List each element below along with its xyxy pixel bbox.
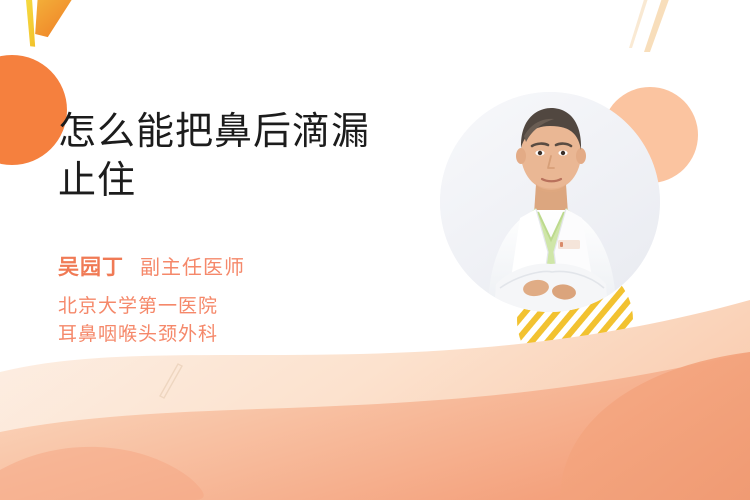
doctor-identity: 吴园丁 副主任医师: [58, 251, 418, 281]
doctor-hospital: 北京大学第一医院: [58, 293, 418, 321]
doctor-name: 吴园丁: [58, 251, 124, 281]
top-right-stripes: [629, 0, 676, 52]
orange-accent-circle: [0, 55, 67, 165]
thin-diagonal-line: [160, 364, 182, 398]
portrait-disc: [440, 92, 660, 312]
doctor-department: 耳鼻咽喉头颈外科: [58, 321, 418, 349]
doctor-portrait: [440, 92, 660, 312]
text-block: 怎么能把鼻后滴漏 止住 吴园丁 副主任医师 北京大学第一医院 耳鼻咽喉头颈外科: [58, 108, 418, 348]
doctor-affiliation: 北京大学第一医院 耳鼻咽喉头颈外科: [58, 293, 418, 348]
page-title: 怎么能把鼻后滴漏 止住: [58, 108, 418, 205]
video-cover: 怎么能把鼻后滴漏 止住 吴园丁 副主任医师 北京大学第一医院 耳鼻咽喉头颈外科: [0, 0, 750, 500]
top-left-stripes: [15, 0, 86, 47]
doctor-professional-title: 副主任医师: [140, 251, 245, 280]
